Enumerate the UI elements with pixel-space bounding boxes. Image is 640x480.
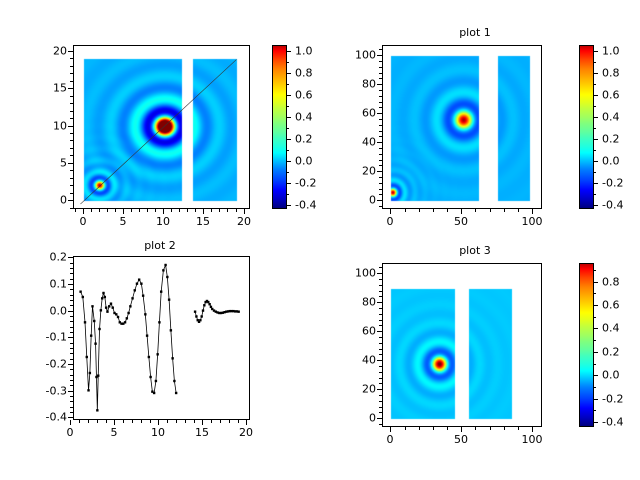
minor-tick [490, 209, 491, 212]
axes-frame-bottom-right [382, 263, 542, 427]
minor-tick [405, 427, 406, 430]
colorbar-tick-label: 0.6 [602, 90, 620, 101]
colorbar-tick-label: 0.8 [295, 68, 313, 79]
axis-tick-label: 0 [342, 195, 376, 206]
data-point-marker [93, 320, 95, 322]
minor-tick [167, 420, 168, 423]
colorbar-tick-label: 0.6 [602, 300, 620, 311]
axis-tick-label: 20 [342, 384, 376, 395]
minor-tick [219, 209, 220, 212]
data-point-marker [127, 312, 129, 314]
data-point-marker [202, 309, 204, 311]
minor-tick [115, 209, 116, 212]
colorbar-minor-tick [593, 317, 596, 318]
colorbar-tick-label: 0.6 [295, 90, 313, 101]
data-point-marker [106, 310, 108, 312]
data-point-marker [82, 296, 84, 298]
data-point-marker [170, 329, 172, 331]
minor-tick [246, 420, 247, 423]
data-point-marker [136, 282, 138, 284]
axis-tick-label: 0 [387, 434, 394, 445]
data-point-marker [87, 389, 89, 391]
colorbar-minor-tick [593, 194, 596, 195]
colorbar-tick-label: 0.0 [602, 370, 620, 381]
colorbar-minor-tick [286, 62, 289, 63]
colorbar-tick-label: 0.8 [602, 277, 620, 288]
minor-tick [229, 420, 230, 423]
colorbar-tick-label: 1.0 [295, 46, 313, 57]
minor-tick [99, 209, 100, 212]
axis-tick-label: 20 [239, 427, 253, 438]
colorbar-tick-label: 0.2 [295, 134, 313, 145]
minor-tick [123, 209, 124, 212]
major-tick [461, 427, 462, 432]
major-tick [532, 209, 533, 214]
axis-tick-label: 0.2 [31, 252, 67, 263]
heatmap-image-bottom-right [383, 264, 542, 427]
minor-tick [91, 209, 92, 212]
minor-tick [504, 427, 505, 430]
axis-tick-label: 100 [342, 50, 376, 61]
colorbar-minor-tick [593, 364, 596, 365]
data-point-marker [108, 305, 110, 307]
minor-tick [405, 209, 406, 212]
minor-tick [419, 209, 420, 212]
colorbar-minor-tick [593, 172, 596, 173]
plot-title-top-right: plot 1 [385, 27, 565, 39]
colorbar-minor-tick [593, 293, 596, 294]
minor-tick [139, 209, 140, 212]
major-tick [390, 209, 391, 214]
minor-tick [447, 427, 448, 430]
panel-top-right: plot 1 050100 020406080100 -0.4-0.20.00.… [320, 0, 640, 240]
minor-tick [79, 420, 80, 423]
colorbar-tick-label: -0.4 [602, 417, 623, 428]
data-point-marker [84, 321, 86, 323]
data-point-marker [131, 297, 133, 299]
minor-tick [83, 209, 84, 212]
minor-tick [518, 427, 519, 430]
colorbar-minor-tick [593, 106, 596, 107]
colorbar-major-tick [286, 73, 291, 74]
minor-tick [75, 209, 76, 212]
minor-tick [158, 420, 159, 423]
colorbar-major-tick [593, 205, 598, 206]
colorbar-major-tick [593, 399, 598, 400]
data-point-marker [194, 310, 196, 312]
minor-tick [532, 427, 533, 430]
colorbar-major-tick [593, 422, 598, 423]
minor-tick [238, 420, 239, 423]
axis-tick-label: 10 [151, 427, 165, 438]
colorbar-major-tick [593, 117, 598, 118]
axis-tick-label: 40 [342, 137, 376, 148]
data-point-marker [160, 290, 162, 292]
colorbar-tick-label: 0.4 [295, 112, 313, 123]
minor-tick [150, 420, 151, 423]
minor-tick [532, 209, 533, 212]
colorbar-tick-label: 0.4 [602, 112, 620, 123]
data-point-marker [126, 317, 128, 319]
plot-title-bottom-left: plot 2 [70, 240, 250, 252]
axes-frame-top-right [382, 45, 542, 209]
axis-tick-label: 5 [111, 427, 118, 438]
data-point-marker [124, 321, 126, 323]
data-point-marker [166, 276, 168, 278]
colorbar-minor-tick [593, 270, 596, 271]
data-point-marker [149, 376, 151, 378]
minor-tick [179, 209, 180, 212]
data-point-marker [210, 306, 212, 308]
minor-tick [244, 209, 245, 212]
colorbar-tick-label: 0.8 [602, 68, 620, 79]
data-point-marker [146, 334, 148, 336]
colorbar-tick-label: 0.0 [602, 156, 620, 167]
minor-tick [141, 420, 142, 423]
major-tick [203, 209, 204, 214]
colorbar-minor-tick [593, 128, 596, 129]
colorbar-tick-label: 0.4 [602, 323, 620, 334]
colorbar-major-tick [593, 305, 598, 306]
minor-tick [187, 209, 188, 212]
minor-tick [518, 209, 519, 212]
data-point-marker [153, 392, 155, 394]
colorbar-tick-label: 0.2 [602, 347, 620, 358]
minor-tick [504, 209, 505, 212]
data-point-marker [96, 409, 98, 411]
panel-bottom-right: plot 3 050100 020406080100 -0.4-0.20.00.… [320, 240, 640, 480]
data-point-marker [162, 269, 164, 271]
data-point-marker [156, 353, 158, 355]
minor-tick [461, 427, 462, 430]
minor-tick [390, 209, 391, 212]
axis-tick-label: 100 [522, 216, 543, 227]
data-point-marker [94, 342, 96, 344]
data-point-marker [158, 321, 160, 323]
axis-tick-label: -0.3 [31, 386, 67, 397]
data-point-marker [200, 315, 202, 317]
minor-tick [433, 209, 434, 212]
minor-tick [236, 209, 237, 212]
axis-tick-label: 5 [120, 216, 127, 227]
axis-tick-label: 100 [522, 434, 543, 445]
data-point-marker [164, 264, 166, 266]
minor-tick [227, 209, 228, 212]
axis-tick-label: 80 [342, 79, 376, 90]
axis-tick-label: 0 [67, 427, 74, 438]
colorbar-top-left: -0.4-0.20.00.20.40.60.81.0 [272, 45, 287, 209]
axis-tick-label: -0.2 [31, 359, 67, 370]
major-tick [158, 420, 159, 425]
data-point-marker [208, 303, 210, 305]
colorbar-tick-label: 1.0 [602, 46, 620, 57]
data-point-marker [195, 315, 197, 317]
minor-tick [461, 209, 462, 212]
colorbar-major-tick [593, 139, 598, 140]
minor-tick [211, 420, 212, 423]
colorbar-top-right: -0.4-0.20.00.20.40.60.81.0 [579, 45, 594, 209]
minor-tick [202, 420, 203, 423]
data-point-marker [144, 313, 146, 315]
heatmap-image-top-left [74, 46, 250, 209]
major-tick [461, 209, 462, 214]
minor-tick [490, 427, 491, 430]
axis-tick-label: 50 [454, 216, 468, 227]
data-point-marker [175, 392, 177, 394]
minor-tick [390, 427, 391, 430]
minor-tick [419, 427, 420, 430]
minor-tick [211, 209, 212, 212]
major-tick [163, 209, 164, 214]
axis-tick-label: 80 [342, 297, 376, 308]
colorbar-major-tick [593, 51, 598, 52]
axis-tick-label: 0.0 [31, 306, 67, 317]
minor-tick [185, 420, 186, 423]
colorbar-tick-label: -0.2 [602, 178, 623, 189]
axis-tick-label: 0 [387, 216, 394, 227]
minor-tick [220, 420, 221, 423]
minor-tick [203, 209, 204, 212]
colorbar-minor-tick [593, 84, 596, 85]
major-tick [244, 209, 245, 214]
colorbar-tick-label: 0.0 [295, 156, 313, 167]
data-point-marker [148, 356, 150, 358]
axis-tick-label: 15 [33, 83, 67, 94]
major-tick [114, 420, 115, 425]
colorbar-major-tick [286, 139, 291, 140]
data-point-marker [104, 296, 106, 298]
data-point-marker [142, 294, 144, 296]
data-point-marker [91, 305, 93, 307]
colorbar-major-tick [286, 117, 291, 118]
colorbar-major-tick [593, 282, 598, 283]
minor-tick [171, 209, 172, 212]
major-tick [246, 420, 247, 425]
minor-tick [147, 209, 148, 212]
data-point-marker [199, 319, 201, 321]
data-point-marker [207, 301, 209, 303]
data-point-marker [237, 310, 239, 312]
colorbar-major-tick [286, 161, 291, 162]
minor-tick [106, 420, 107, 423]
colorbar-major-tick [286, 205, 291, 206]
axis-tick-label: 60 [342, 108, 376, 119]
major-tick [202, 420, 203, 425]
colorbar-minor-tick [593, 150, 596, 151]
major-tick [390, 427, 391, 432]
data-point-marker [112, 306, 114, 308]
colorbar-major-tick [593, 328, 598, 329]
plot-title-bottom-right: plot 3 [385, 245, 565, 257]
minor-tick [163, 209, 164, 212]
axis-tick-label: 100 [342, 268, 376, 279]
data-point-marker [115, 313, 117, 315]
data-point-marker [101, 297, 103, 299]
axis-tick-label: 10 [33, 121, 67, 132]
minor-tick [195, 209, 196, 212]
axis-tick-label: 40 [342, 355, 376, 366]
colorbar-tick-label: 0.2 [602, 134, 620, 145]
colorbar-minor-tick [593, 410, 596, 411]
data-point-marker [138, 278, 140, 280]
minor-tick [114, 420, 115, 423]
data-point-marker [140, 282, 142, 284]
minor-tick [123, 420, 124, 423]
axis-tick-label: 0 [33, 195, 67, 206]
line-path [81, 265, 177, 410]
axis-tick-label: 0 [342, 413, 376, 424]
data-point-marker [110, 302, 112, 304]
data-point-marker [79, 290, 81, 292]
data-point-marker [100, 309, 102, 311]
data-point-marker [98, 328, 100, 330]
axes-frame-top-left [73, 45, 250, 209]
minor-tick [132, 420, 133, 423]
major-tick [123, 209, 124, 214]
minor-tick [433, 427, 434, 430]
colorbar-major-tick [286, 51, 291, 52]
colorbar-major-tick [593, 183, 598, 184]
colorbar-major-tick [286, 183, 291, 184]
axis-tick-label: 20 [237, 216, 251, 227]
colorbar-major-tick [593, 352, 598, 353]
major-tick [532, 427, 533, 432]
data-point-marker [168, 298, 170, 300]
colorbar-tick-label: -0.2 [602, 394, 623, 405]
axis-tick-label: 15 [195, 427, 209, 438]
major-tick [83, 209, 84, 214]
axis-tick-label: 20 [33, 46, 67, 57]
axis-tick-label: 0.1 [31, 279, 67, 290]
minor-tick [88, 420, 89, 423]
minor-tick [107, 209, 108, 212]
colorbar-minor-tick [286, 150, 289, 151]
minor-tick [475, 209, 476, 212]
axis-tick-label: 10 [156, 216, 170, 227]
colorbar-major-tick [593, 161, 598, 162]
minor-tick [475, 427, 476, 430]
minor-tick [176, 420, 177, 423]
axis-tick-label: -0.4 [31, 412, 67, 423]
data-point-marker [117, 316, 119, 318]
minor-tick [155, 209, 156, 212]
data-point-marker [102, 292, 104, 294]
colorbar-tick-label: -0.2 [295, 178, 316, 189]
minor-tick [447, 209, 448, 212]
colorbar-major-tick [286, 95, 291, 96]
axis-tick-label: 60 [342, 326, 376, 337]
axis-tick-label: 50 [454, 434, 468, 445]
figure-canvas: 05101520 05101520 -0.4-0.20.00.20.40.60.… [0, 0, 640, 480]
panel-top-left: 05101520 05101520 -0.4-0.20.00.20.40.60.… [0, 0, 320, 240]
colorbar-minor-tick [593, 62, 596, 63]
axis-tick-label: -0.1 [31, 332, 67, 343]
colorbar-major-tick [593, 375, 598, 376]
heatmap-image-top-right [383, 46, 542, 209]
colorbar-minor-tick [286, 128, 289, 129]
line-series-bottom-left [74, 257, 250, 420]
data-point-marker [203, 304, 205, 306]
axis-tick-label: 5 [33, 158, 67, 169]
data-point-marker [86, 356, 88, 358]
data-point-marker [129, 305, 131, 307]
colorbar-tick-label: -0.4 [295, 200, 316, 211]
colorbar-minor-tick [286, 172, 289, 173]
minor-tick [194, 420, 195, 423]
colorbar-minor-tick [286, 84, 289, 85]
colorbar-bottom-right: -0.4-0.20.00.20.40.60.8 [579, 263, 594, 427]
colorbar-minor-tick [593, 387, 596, 388]
axis-tick-label: 15 [196, 216, 210, 227]
axes-frame-bottom-left [73, 256, 250, 420]
minor-tick [97, 420, 98, 423]
data-point-marker [97, 374, 99, 376]
minor-tick [131, 209, 132, 212]
panel-bottom-left: plot 2 05101520 -0.4-0.3-0.2-0.10.00.10.… [0, 240, 320, 480]
colorbar-major-tick [593, 73, 598, 74]
data-point-marker [134, 289, 136, 291]
data-point-marker [105, 306, 107, 308]
colorbar-tick-label: -0.4 [602, 200, 623, 211]
data-point-marker [89, 372, 91, 374]
colorbar-minor-tick [286, 106, 289, 107]
colorbar-minor-tick [286, 194, 289, 195]
major-tick [70, 420, 71, 425]
data-point-marker [171, 357, 173, 359]
data-point-marker [173, 380, 175, 382]
colorbar-minor-tick [593, 340, 596, 341]
data-point-marker [155, 380, 157, 382]
axis-tick-label: 20 [342, 166, 376, 177]
data-point-marker [90, 334, 92, 336]
colorbar-major-tick [593, 95, 598, 96]
axis-tick-label: 0 [80, 216, 87, 227]
